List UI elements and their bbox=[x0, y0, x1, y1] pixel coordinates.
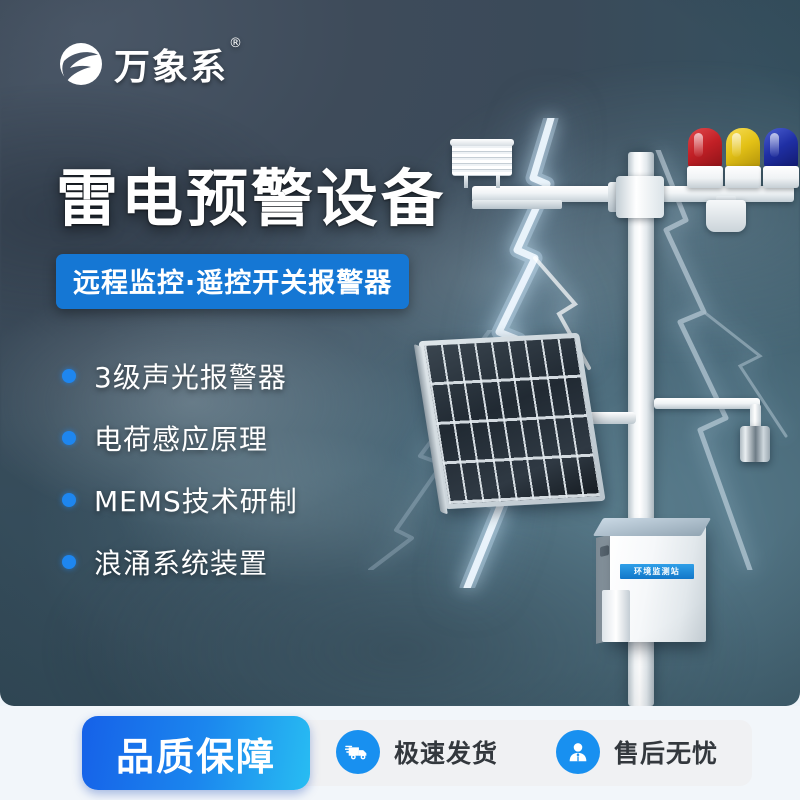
hero-photo: 环境监测站 万象系 ® 雷电预警设备 远程监控·遥控开关报警器 3级声光报警器 bbox=[0, 0, 800, 706]
delivery-truck-icon bbox=[336, 730, 380, 774]
trust-item-label: 极速发货 bbox=[394, 734, 498, 770]
swoosh-globe-icon bbox=[58, 41, 104, 87]
quality-badge[interactable]: 品质保障 bbox=[82, 716, 310, 790]
registered-mark: ® bbox=[229, 36, 244, 51]
feature-label: MEMS技术研制 bbox=[94, 480, 298, 520]
trust-item-shipping[interactable]: 极速发货 bbox=[336, 730, 498, 774]
list-item: 电荷感应原理 bbox=[62, 407, 298, 469]
subtitle-badge: 远程监控·遥控开关报警器 bbox=[56, 254, 409, 309]
trust-bar: 品质保障 极速发货 bbox=[0, 706, 800, 800]
feature-label: 电荷感应原理 bbox=[94, 418, 268, 458]
bullet-dot-icon bbox=[62, 369, 76, 383]
product-poster: 环境监测站 万象系 ® 雷电预警设备 远程监控·遥控开关报警器 3级声光报警器 bbox=[0, 0, 800, 800]
feature-list: 3级声光报警器 电荷感应原理 MEMS技术研制 浪涌系统装置 bbox=[62, 345, 298, 593]
feature-label: 3级声光报警器 bbox=[94, 356, 287, 396]
list-item: 浪涌系统装置 bbox=[62, 531, 298, 593]
support-agent-icon bbox=[556, 730, 600, 774]
bullet-dot-icon bbox=[62, 493, 76, 507]
feature-label: 浪涌系统装置 bbox=[94, 542, 268, 582]
brand-logo: 万象系 ® bbox=[58, 38, 228, 90]
list-item: MEMS技术研制 bbox=[62, 469, 298, 531]
page-title: 雷电预警设备 bbox=[56, 148, 446, 238]
trust-item-label: 售后无忧 bbox=[614, 734, 718, 770]
trust-item-aftersales[interactable]: 售后无忧 bbox=[556, 730, 718, 774]
brand-name-text: 万象系 bbox=[114, 47, 228, 88]
brand-name: 万象系 ® bbox=[114, 38, 228, 90]
bullet-dot-icon bbox=[62, 431, 76, 445]
quality-badge-label: 品质保障 bbox=[116, 726, 276, 781]
bullet-dot-icon bbox=[62, 555, 76, 569]
list-item: 3级声光报警器 bbox=[62, 345, 298, 407]
